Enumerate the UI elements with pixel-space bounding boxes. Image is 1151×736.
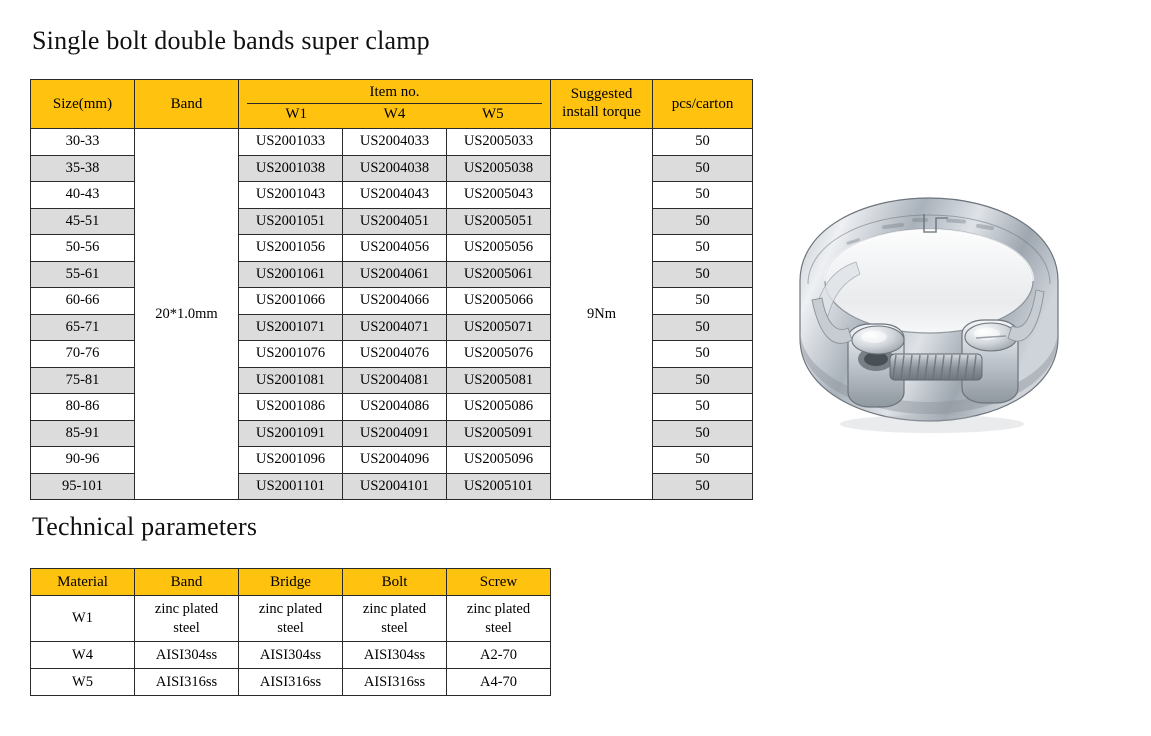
column-header-size: Size(mm) (31, 80, 135, 129)
cell-size: 35-38 (31, 155, 135, 182)
cell-item-w4: US2004051 (343, 208, 447, 235)
column-header-w4: W4 (345, 106, 443, 123)
cell-band-line1: AISI304ss (135, 646, 238, 664)
cell-screw-line1: zinc plated (447, 600, 550, 618)
tech-table-header-row: Material Band Bridge Bolt Screw (31, 569, 551, 596)
cell-item-w1: US2001071 (239, 314, 343, 341)
cell-item-w4: US2004071 (343, 314, 447, 341)
cell-screw-line1: A4-70 (447, 673, 550, 691)
cell-item-w4: US2004043 (343, 182, 447, 209)
cell-item-w5: US2005038 (447, 155, 551, 182)
cell-band-merged: 20*1.0mm (135, 129, 239, 500)
spec-table-body: 30-3320*1.0mmUS2001033US2004033US2005033… (31, 129, 753, 500)
cell-size: 40-43 (31, 182, 135, 209)
cell-bridge-line1: AISI316ss (239, 673, 342, 691)
cell-size: 50-56 (31, 235, 135, 262)
cell-band-line1: AISI316ss (135, 673, 238, 691)
section-title-technical-parameters: Technical parameters (32, 512, 257, 542)
cell-bolt-line1: zinc plated (343, 600, 446, 618)
cell-pcs-carton: 50 (653, 182, 753, 209)
cell-band: AISI316ss (135, 669, 239, 696)
cell-bolt: zinc platedsteel (343, 596, 447, 642)
cell-item-w4: US2004096 (343, 447, 447, 474)
cell-item-w5: US2005056 (447, 235, 551, 262)
cell-size: 30-33 (31, 129, 135, 156)
cell-bridge-line2: steel (239, 619, 342, 637)
cell-bolt: AISI304ss (343, 642, 447, 669)
cell-screw-line2: steel (447, 619, 550, 637)
cell-item-w4: US2004038 (343, 155, 447, 182)
cell-material: W4 (31, 642, 135, 669)
cell-item-w5: US2005066 (447, 288, 551, 315)
tech-table-row: W5AISI316ssAISI316ssAISI316ssA4-70 (31, 669, 551, 696)
column-header-band: Band (135, 80, 239, 129)
cell-pcs-carton: 50 (653, 314, 753, 341)
column-header-pcs-carton: pcs/carton (653, 80, 753, 129)
cell-pcs-carton: 50 (653, 420, 753, 447)
cell-item-w4: US2004061 (343, 261, 447, 288)
cell-item-w5: US2005033 (447, 129, 551, 156)
cell-bolt-line2: steel (343, 619, 446, 637)
cell-size: 55-61 (31, 261, 135, 288)
column-header-item-no: Item no. (247, 85, 542, 104)
cell-pcs-carton: 50 (653, 288, 753, 315)
cell-size: 85-91 (31, 420, 135, 447)
cell-item-w4: US2004066 (343, 288, 447, 315)
technical-parameters-body: W1zinc platedsteelzinc platedsteelzinc p… (31, 596, 551, 696)
cell-item-w4: US2004101 (343, 473, 447, 500)
cell-item-w5: US2005081 (447, 367, 551, 394)
cell-pcs-carton: 50 (653, 447, 753, 474)
cell-size: 70-76 (31, 341, 135, 368)
tech-table-row: W1zinc platedsteelzinc platedsteelzinc p… (31, 596, 551, 642)
cell-item-w5: US2005096 (447, 447, 551, 474)
cell-item-w1: US2001043 (239, 182, 343, 209)
technical-parameters-table: Material Band Bridge Bolt Screw W1zinc p… (30, 568, 551, 696)
cell-screw: A2-70 (447, 642, 551, 669)
cell-bridge: AISI316ss (239, 669, 343, 696)
spec-table-header-row: Size(mm) Band Item no. W1 W4 W5 Suggeste… (31, 80, 753, 129)
cell-pcs-carton: 50 (653, 473, 753, 500)
cell-item-w1: US2001038 (239, 155, 343, 182)
cell-bridge-line1: zinc plated (239, 600, 342, 618)
cell-item-w1: US2001033 (239, 129, 343, 156)
column-header-item-no-group: Item no. W1 W4 W5 (239, 80, 551, 129)
cell-item-w4: US2004076 (343, 341, 447, 368)
cell-item-w4: US2004081 (343, 367, 447, 394)
cell-bolt-line1: AISI304ss (343, 646, 446, 664)
torque-header-line1: Suggested (553, 86, 650, 104)
cell-item-w5: US2005051 (447, 208, 551, 235)
cell-bolt: AISI316ss (343, 669, 447, 696)
tech-column-header-band: Band (135, 569, 239, 596)
cell-bridge: AISI304ss (239, 642, 343, 669)
cell-item-w4: US2004086 (343, 394, 447, 421)
column-header-suggested-install-torque: Suggested install torque (551, 80, 653, 129)
cell-screw: A4-70 (447, 669, 551, 696)
cell-band-line1: zinc plated (135, 600, 238, 618)
tech-column-header-screw: Screw (447, 569, 551, 596)
cell-item-w1: US2001086 (239, 394, 343, 421)
cell-item-w1: US2001061 (239, 261, 343, 288)
cell-item-w1: US2001101 (239, 473, 343, 500)
cell-bridge-line1: AISI304ss (239, 646, 342, 664)
cell-size: 60-66 (31, 288, 135, 315)
cell-material: W5 (31, 669, 135, 696)
cell-size: 90-96 (31, 447, 135, 474)
cell-item-w5: US2005061 (447, 261, 551, 288)
cell-size: 95-101 (31, 473, 135, 500)
cell-item-w1: US2001091 (239, 420, 343, 447)
tech-table-row: W4AISI304ssAISI304ssAISI304ssA2-70 (31, 642, 551, 669)
cell-item-w1: US2001066 (239, 288, 343, 315)
cell-item-w4: US2004091 (343, 420, 447, 447)
cell-item-w5: US2005043 (447, 182, 551, 209)
cell-screw-line1: A2-70 (447, 646, 550, 664)
cell-pcs-carton: 50 (653, 261, 753, 288)
cell-band: AISI304ss (135, 642, 239, 669)
page-title: Single bolt double bands super clamp (32, 26, 430, 56)
column-header-w1: W1 (247, 106, 345, 123)
cell-size: 45-51 (31, 208, 135, 235)
cell-pcs-carton: 50 (653, 208, 753, 235)
cell-item-w4: US2004056 (343, 235, 447, 262)
cell-screw: zinc platedsteel (447, 596, 551, 642)
cell-pcs-carton: 50 (653, 129, 753, 156)
cell-item-w5: US2005086 (447, 394, 551, 421)
tech-column-header-bolt: Bolt (343, 569, 447, 596)
cell-item-w1: US2001081 (239, 367, 343, 394)
cell-item-w5: US2005071 (447, 314, 551, 341)
cell-size: 65-71 (31, 314, 135, 341)
column-header-w5: W5 (444, 106, 542, 123)
cell-bridge: zinc platedsteel (239, 596, 343, 642)
cell-band: zinc platedsteel (135, 596, 239, 642)
cell-item-w1: US2001051 (239, 208, 343, 235)
cell-item-w1: US2001076 (239, 341, 343, 368)
cell-pcs-carton: 50 (653, 235, 753, 262)
cell-material: W1 (31, 596, 135, 642)
cell-size: 75-81 (31, 367, 135, 394)
cell-item-w1: US2001096 (239, 447, 343, 474)
cell-pcs-carton: 50 (653, 155, 753, 182)
cell-pcs-carton: 50 (653, 367, 753, 394)
cell-pcs-carton: 50 (653, 341, 753, 368)
cell-item-w5: US2005101 (447, 473, 551, 500)
cell-pcs-carton: 50 (653, 394, 753, 421)
spec-table: Size(mm) Band Item no. W1 W4 W5 Suggeste… (30, 79, 753, 500)
cell-item-w1: US2001056 (239, 235, 343, 262)
cell-item-w5: US2005091 (447, 420, 551, 447)
cell-torque-merged: 9Nm (551, 129, 653, 500)
cell-bolt-line1: AISI316ss (343, 673, 446, 691)
cell-item-w5: US2005076 (447, 341, 551, 368)
cell-size: 80-86 (31, 394, 135, 421)
product-photo-clamp (786, 188, 1072, 440)
torque-header-line2: install torque (553, 104, 650, 122)
cell-band-line2: steel (135, 619, 238, 637)
cell-item-w4: US2004033 (343, 129, 447, 156)
tech-column-header-bridge: Bridge (239, 569, 343, 596)
tech-column-header-material: Material (31, 569, 135, 596)
spec-table-row: 30-3320*1.0mmUS2001033US2004033US2005033… (31, 129, 753, 156)
